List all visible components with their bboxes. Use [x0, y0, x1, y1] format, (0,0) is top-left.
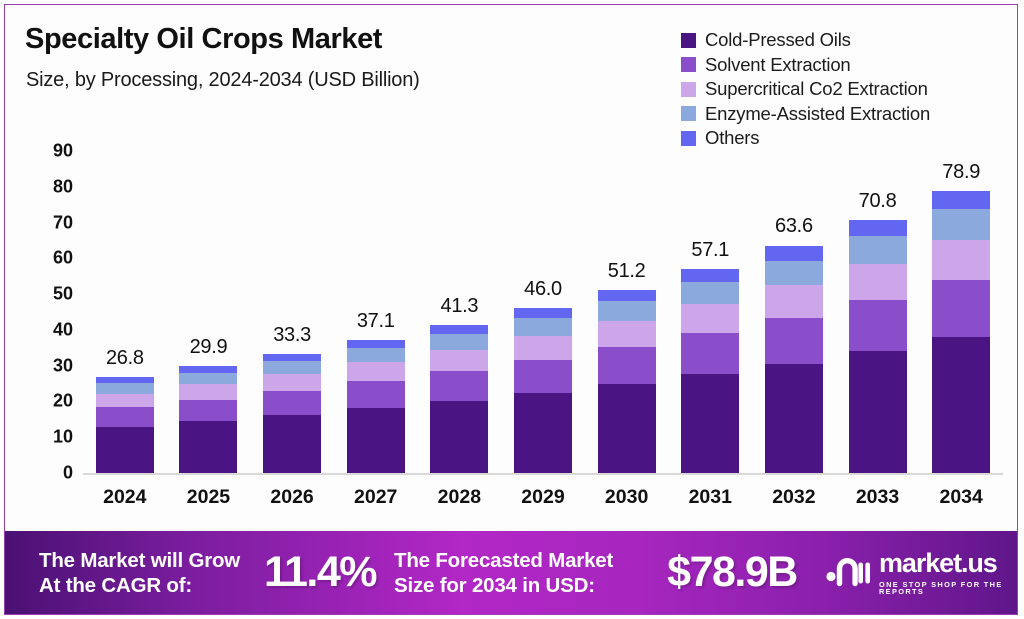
logo-tagline: ONE STOP SHOP FOR THE REPORTS: [879, 581, 1018, 596]
bar-value-label-2025: 29.9: [190, 336, 228, 359]
bar-stack-2025[interactable]: [179, 366, 237, 473]
bar-segment: [765, 261, 823, 286]
bar-segment: [430, 401, 488, 473]
cagr-label: The Market will Grow At the CAGR of:: [39, 548, 254, 598]
bar-segment: [849, 236, 907, 264]
bar-segment: [514, 336, 572, 360]
x-axis-tick-2027: 2027: [354, 486, 397, 509]
bar-segment: [514, 308, 572, 318]
infographic-frame: Specialty Oil Crops Market Size, by Proc…: [4, 4, 1018, 615]
bar-segment: [765, 246, 823, 261]
y-axis-tick-80: 80: [27, 176, 73, 197]
bar-segment: [849, 220, 907, 236]
footer-banner: The Market will Grow At the CAGR of: 11.…: [5, 531, 1018, 614]
bar-segment: [430, 325, 488, 334]
y-axis-tick-50: 50: [27, 284, 73, 305]
bar-stack-2031[interactable]: [681, 269, 739, 473]
cagr-value: 11.4%: [254, 548, 386, 597]
bar-segment: [263, 415, 321, 473]
bar-stack-2024[interactable]: [96, 377, 154, 473]
bar-value-label-2031: 57.1: [691, 239, 729, 262]
bar-segment: [932, 240, 990, 280]
bar-segment: [179, 384, 237, 399]
bar-stack-2033[interactable]: [849, 220, 907, 473]
bar-value-label-2032: 63.6: [775, 215, 813, 238]
y-axis-tick-0: 0: [27, 463, 73, 484]
bar-segment: [263, 354, 321, 361]
bar-segment: [598, 290, 656, 301]
bar-segment: [849, 264, 907, 300]
bar-segment: [263, 391, 321, 415]
cagr-label-line2: At the CAGR of:: [39, 573, 254, 598]
bar-value-label-2033: 70.8: [859, 190, 897, 213]
bar-value-label-2028: 41.3: [440, 295, 478, 318]
bar-value-label-2030: 51.2: [608, 260, 646, 283]
bar-segment: [96, 383, 154, 393]
y-axis-tick-90: 90: [27, 141, 73, 162]
y-axis: 9080706050403020100: [27, 5, 73, 525]
y-axis-tick-70: 70: [27, 212, 73, 233]
bar-segment: [849, 351, 907, 473]
x-axis-tick-2029: 2029: [521, 486, 564, 509]
bar-segment: [347, 408, 405, 473]
x-axis-tick-2034: 2034: [939, 486, 982, 509]
bar-segment: [598, 384, 656, 473]
bar-stack-2027[interactable]: [347, 340, 405, 473]
x-axis-tick-2025: 2025: [187, 486, 230, 509]
bar-segment: [765, 285, 823, 318]
bar-segment: [681, 304, 739, 333]
forecast-value: $78.9B: [649, 548, 815, 597]
bar-segment: [514, 360, 572, 393]
bar-segment: [347, 362, 405, 381]
x-axis-tick-2024: 2024: [103, 486, 146, 509]
x-axis-tick-2026: 2026: [270, 486, 313, 509]
bar-stack-2026[interactable]: [263, 354, 321, 473]
x-axis-tick-2028: 2028: [438, 486, 481, 509]
bar-segment: [96, 394, 154, 408]
bar-segment: [765, 318, 823, 364]
bar-group: 26.8202429.9202533.3202637.1202741.32028…: [83, 5, 1003, 525]
bar-value-label-2024: 26.8: [106, 347, 144, 370]
bar-segment: [681, 282, 739, 304]
bar-segment: [347, 348, 405, 362]
bar-segment: [430, 350, 488, 371]
cagr-label-line1: The Market will Grow: [39, 548, 254, 573]
bar-segment: [681, 269, 739, 282]
x-axis-tick-2030: 2030: [605, 486, 648, 509]
bar-segment: [179, 373, 237, 384]
logo-name: market.us: [879, 550, 1018, 577]
x-axis-tick-2031: 2031: [689, 486, 732, 509]
bar-segment: [598, 301, 656, 321]
bar-stack-2029[interactable]: [514, 308, 572, 473]
bar-segment: [932, 280, 990, 337]
bar-segment: [932, 209, 990, 240]
bar-segment: [765, 364, 823, 473]
bar-segment: [96, 427, 154, 474]
bar-segment: [179, 421, 237, 473]
bar-segment: [179, 400, 237, 421]
bar-segment: [347, 381, 405, 408]
bar-segment: [932, 191, 990, 209]
bar-segment: [514, 393, 572, 473]
y-axis-tick-10: 10: [27, 427, 73, 448]
bar-value-label-2034: 78.9: [942, 161, 980, 184]
market-us-logo-mark-icon: [825, 553, 871, 592]
bar-stack-2032[interactable]: [765, 246, 823, 473]
bar-value-label-2027: 37.1: [357, 310, 395, 333]
bar-segment: [849, 300, 907, 351]
bar-segment: [179, 366, 237, 373]
bar-segment: [598, 347, 656, 384]
forecast-label-line2: Size for 2034 in USD:: [394, 573, 649, 598]
x-axis-tick-2032: 2032: [772, 486, 815, 509]
bar-value-label-2026: 33.3: [273, 324, 311, 347]
y-axis-tick-30: 30: [27, 355, 73, 376]
bar-segment: [263, 361, 321, 374]
bar-segment: [681, 374, 739, 473]
y-axis-tick-40: 40: [27, 319, 73, 340]
bar-stack-2028[interactable]: [430, 325, 488, 473]
y-axis-tick-20: 20: [27, 391, 73, 412]
bar-segment: [932, 337, 990, 473]
bar-segment: [263, 374, 321, 391]
bar-stack-2030[interactable]: [598, 290, 656, 473]
bar-stack-2034[interactable]: [932, 191, 990, 473]
bar-segment: [514, 318, 572, 336]
bar-segment: [347, 340, 405, 348]
bar-value-label-2029: 46.0: [524, 278, 562, 301]
forecast-label: The Forecasted Market Size for 2034 in U…: [394, 548, 649, 598]
chart-plot-area: 9080706050403020100 26.8202429.9202533.3…: [5, 5, 1018, 525]
bar-segment: [598, 321, 656, 347]
y-axis-tick-60: 60: [27, 248, 73, 269]
bar-segment: [96, 407, 154, 426]
bar-segment: [430, 334, 488, 350]
market-us-logo: market.us ONE STOP SHOP FOR THE REPORTS: [825, 550, 1018, 596]
bar-segment: [681, 333, 739, 374]
forecast-label-line1: The Forecasted Market: [394, 548, 649, 573]
x-axis-tick-2033: 2033: [856, 486, 899, 509]
bar-segment: [430, 371, 488, 401]
